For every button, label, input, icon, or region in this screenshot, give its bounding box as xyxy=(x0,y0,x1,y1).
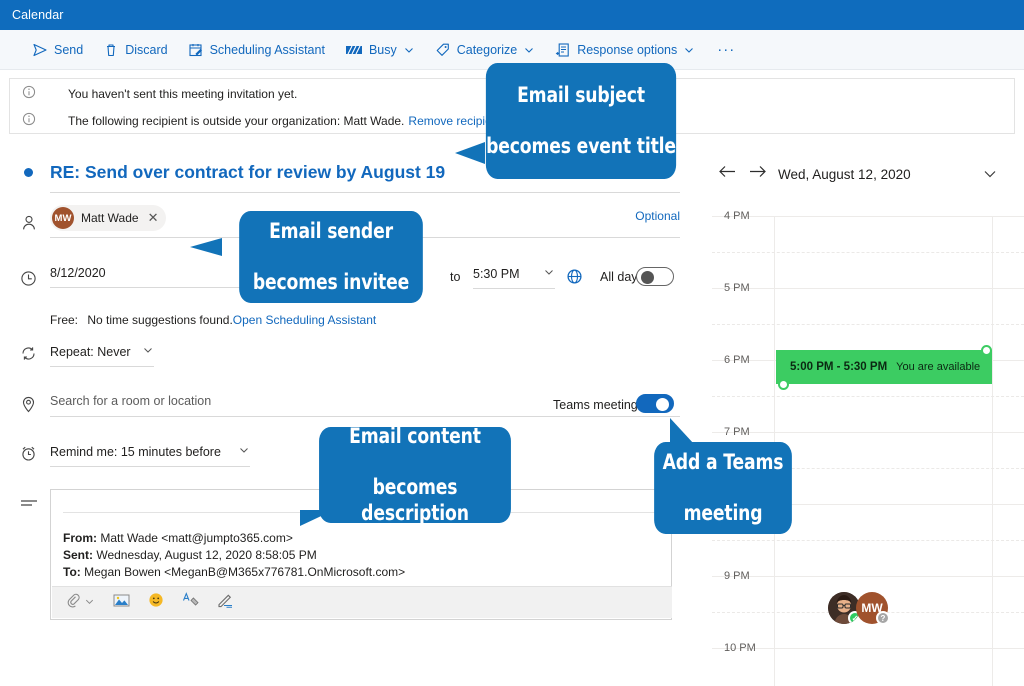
chevron-down-icon[interactable] xyxy=(84,594,95,612)
send-label: Send xyxy=(54,43,83,57)
text-format-button[interactable] xyxy=(182,592,199,613)
callout-line-1: Add a Teams xyxy=(663,450,784,476)
callout-line-2: becomes event title xyxy=(486,134,676,160)
emoji-icon xyxy=(148,592,164,613)
more-options-button[interactable]: ··· xyxy=(705,41,747,58)
grid-hour-line xyxy=(712,288,1024,289)
free-label: Free: xyxy=(50,313,78,327)
callout-sender: Email sender becomes invitee xyxy=(239,211,423,303)
event-availability: You are available xyxy=(896,361,980,373)
attendee-pill[interactable]: MW Matt Wade ✕ xyxy=(50,205,166,231)
clock-icon xyxy=(20,270,37,292)
window-title: Calendar xyxy=(0,8,64,22)
status-badge: ? xyxy=(876,611,890,625)
repeat-icon xyxy=(20,345,37,367)
close-icon[interactable]: ✕ xyxy=(146,210,159,226)
signature-button[interactable] xyxy=(217,592,234,613)
insert-picture-button[interactable] xyxy=(113,593,130,613)
response-options-button[interactable]: Response options xyxy=(545,35,705,65)
location-pin-icon xyxy=(20,395,37,418)
avatar[interactable]: MW ? xyxy=(856,592,888,624)
grid-half-hour-line xyxy=(712,396,1024,397)
teams-meeting-label: Teams meeting xyxy=(553,398,638,412)
chevron-down-icon[interactable] xyxy=(683,44,695,56)
discard-label: Discard xyxy=(125,43,167,57)
chevron-down-icon[interactable] xyxy=(543,266,555,281)
grid-half-hour-line xyxy=(712,324,1024,325)
reminder-value: Remind me: 15 minutes before xyxy=(50,445,221,459)
hour-label: 6 PM xyxy=(724,354,750,366)
attendee-avatars: ✓ MW ? xyxy=(828,592,888,624)
email-to-line: To: Megan Bowen <MeganB@M365x776781.OnMi… xyxy=(63,564,405,581)
description-lines-icon xyxy=(20,497,38,516)
avatar: MW xyxy=(52,207,74,229)
send-icon xyxy=(32,42,48,58)
trash-icon xyxy=(103,42,119,58)
repeat-select[interactable]: Repeat: Never xyxy=(50,344,154,367)
to-value: Megan Bowen <MeganB@M365x776781.OnMicros… xyxy=(84,565,405,579)
toggle-knob xyxy=(641,271,654,284)
availability-hint: Free: No time suggestions found.Open Sch… xyxy=(50,313,376,327)
unsaved-indicator-dot xyxy=(24,168,33,177)
time-range-to-label: to xyxy=(450,270,460,284)
busy-button[interactable]: Busy xyxy=(335,35,425,65)
next-day-button[interactable] xyxy=(742,164,772,184)
grid-half-hour-line xyxy=(712,540,1024,541)
time-zone-icon[interactable] xyxy=(566,268,583,290)
previous-day-button[interactable] xyxy=(712,164,742,184)
chevron-down-icon[interactable] xyxy=(142,344,154,359)
picture-icon xyxy=(113,593,130,613)
callout-line-2: becomes invitee xyxy=(253,270,409,296)
optional-attendees-link[interactable]: Optional xyxy=(635,209,680,223)
sent-value: Wednesday, August 12, 2020 8:58:05 PM xyxy=(96,548,316,562)
grid-hour-line xyxy=(712,648,1024,649)
open-scheduling-assistant-link[interactable]: Open Scheduling Assistant xyxy=(233,313,376,327)
chevron-down-icon[interactable] xyxy=(238,444,250,459)
email-quoted-headers: From: Matt Wade <matt@jumpto365.com> Sen… xyxy=(63,530,405,581)
callout-tail xyxy=(455,142,485,164)
callout-subject: Email subject becomes event title xyxy=(486,63,676,179)
repeat-value: Repeat: Never xyxy=(50,345,131,359)
window-title-bar: Calendar xyxy=(0,0,1024,30)
hour-label: 7 PM xyxy=(724,426,750,438)
info-icon xyxy=(22,85,44,104)
callout-tail xyxy=(190,238,222,256)
grid-hour-line xyxy=(712,216,1024,217)
callout-teams: Add a Teams meeting xyxy=(654,442,792,534)
hour-label: 5 PM xyxy=(724,282,750,294)
tag-icon xyxy=(435,42,451,58)
from-value: Matt Wade <matt@jumpto365.com> xyxy=(100,531,293,545)
send-button[interactable]: Send xyxy=(22,35,93,65)
categorize-label: Categorize xyxy=(457,43,517,57)
info-message-text: The following recipient is outside your … xyxy=(44,114,404,128)
grid-vertical-line xyxy=(992,216,993,686)
toggle-knob xyxy=(656,398,669,411)
attach-button[interactable] xyxy=(66,593,95,613)
callout-tail xyxy=(670,418,694,444)
emoji-button[interactable] xyxy=(148,592,164,613)
busy-icon xyxy=(345,43,363,57)
calendar-header: Wed, August 12, 2020 xyxy=(712,156,1024,192)
grid-half-hour-line xyxy=(712,252,1024,253)
people-icon xyxy=(20,214,38,237)
busy-label: Busy xyxy=(369,43,397,57)
response-options-label: Response options xyxy=(577,43,677,57)
hour-label: 9 PM xyxy=(724,570,750,582)
categorize-button[interactable]: Categorize xyxy=(425,35,545,65)
callout-line-1: Email content xyxy=(319,424,511,450)
free-text: No time suggestions found. xyxy=(81,313,232,327)
end-time-value: 5:30 PM xyxy=(473,267,520,281)
scheduling-assistant-label: Scheduling Assistant xyxy=(210,43,325,57)
event-resize-handle-top[interactable] xyxy=(981,345,992,356)
alarm-clock-icon xyxy=(20,445,37,467)
body-format-toolbar xyxy=(52,586,672,618)
info-icon xyxy=(22,112,44,131)
attach-icon xyxy=(66,593,81,613)
teams-meeting-toggle[interactable] xyxy=(636,394,674,413)
signature-icon xyxy=(217,592,234,613)
to-label: To: xyxy=(63,565,81,579)
email-from-line: From: Matt Wade <matt@jumpto365.com> xyxy=(63,530,405,547)
scheduling-assistant-button[interactable]: Scheduling Assistant xyxy=(178,35,335,65)
callout-line-2: becomes description xyxy=(319,475,511,526)
hour-label: 10 PM xyxy=(724,642,756,654)
chevron-down-icon[interactable] xyxy=(523,44,535,56)
end-time-select[interactable]: 5:30 PM xyxy=(473,266,555,289)
chevron-down-icon[interactable] xyxy=(403,44,415,56)
callout-line-1: Email subject xyxy=(486,83,676,109)
calendar-event-block[interactable]: 5:00 PM - 5:30 PM You are available xyxy=(776,350,992,384)
callout-line-1: Email sender xyxy=(253,219,409,245)
calendar-preview-pane: Wed, August 12, 2020 4 PM 5 PM 6 PM xyxy=(712,140,1024,640)
grid-hour-line xyxy=(712,576,1024,577)
all-day-toggle[interactable] xyxy=(636,267,674,286)
callout-content: Email content becomes description xyxy=(319,427,511,523)
email-sent-line: Sent: Wednesday, August 12, 2020 8:58:05… xyxy=(63,547,405,564)
calendar-date-label: Wed, August 12, 2020 xyxy=(772,167,911,182)
text-format-icon xyxy=(182,592,199,613)
event-resize-handle-bottom[interactable] xyxy=(778,379,789,390)
scheduling-assistant-icon xyxy=(188,42,204,58)
attendee-name: Matt Wade xyxy=(81,211,139,225)
from-label: From: xyxy=(63,531,97,545)
chevron-down-icon[interactable] xyxy=(982,166,998,187)
event-time: 5:00 PM - 5:30 PM xyxy=(790,361,887,373)
reminder-select[interactable]: Remind me: 15 minutes before xyxy=(50,444,250,467)
info-message-text: You haven't sent this meeting invitation… xyxy=(44,87,297,101)
discard-button[interactable]: Discard xyxy=(93,35,177,65)
sent-label: Sent: xyxy=(63,548,93,562)
all-day-label: All day xyxy=(600,270,638,284)
callout-line-2: meeting xyxy=(663,501,784,527)
hour-label: 4 PM xyxy=(724,210,750,222)
response-options-icon xyxy=(555,42,571,58)
grid-hour-line xyxy=(712,432,1024,433)
